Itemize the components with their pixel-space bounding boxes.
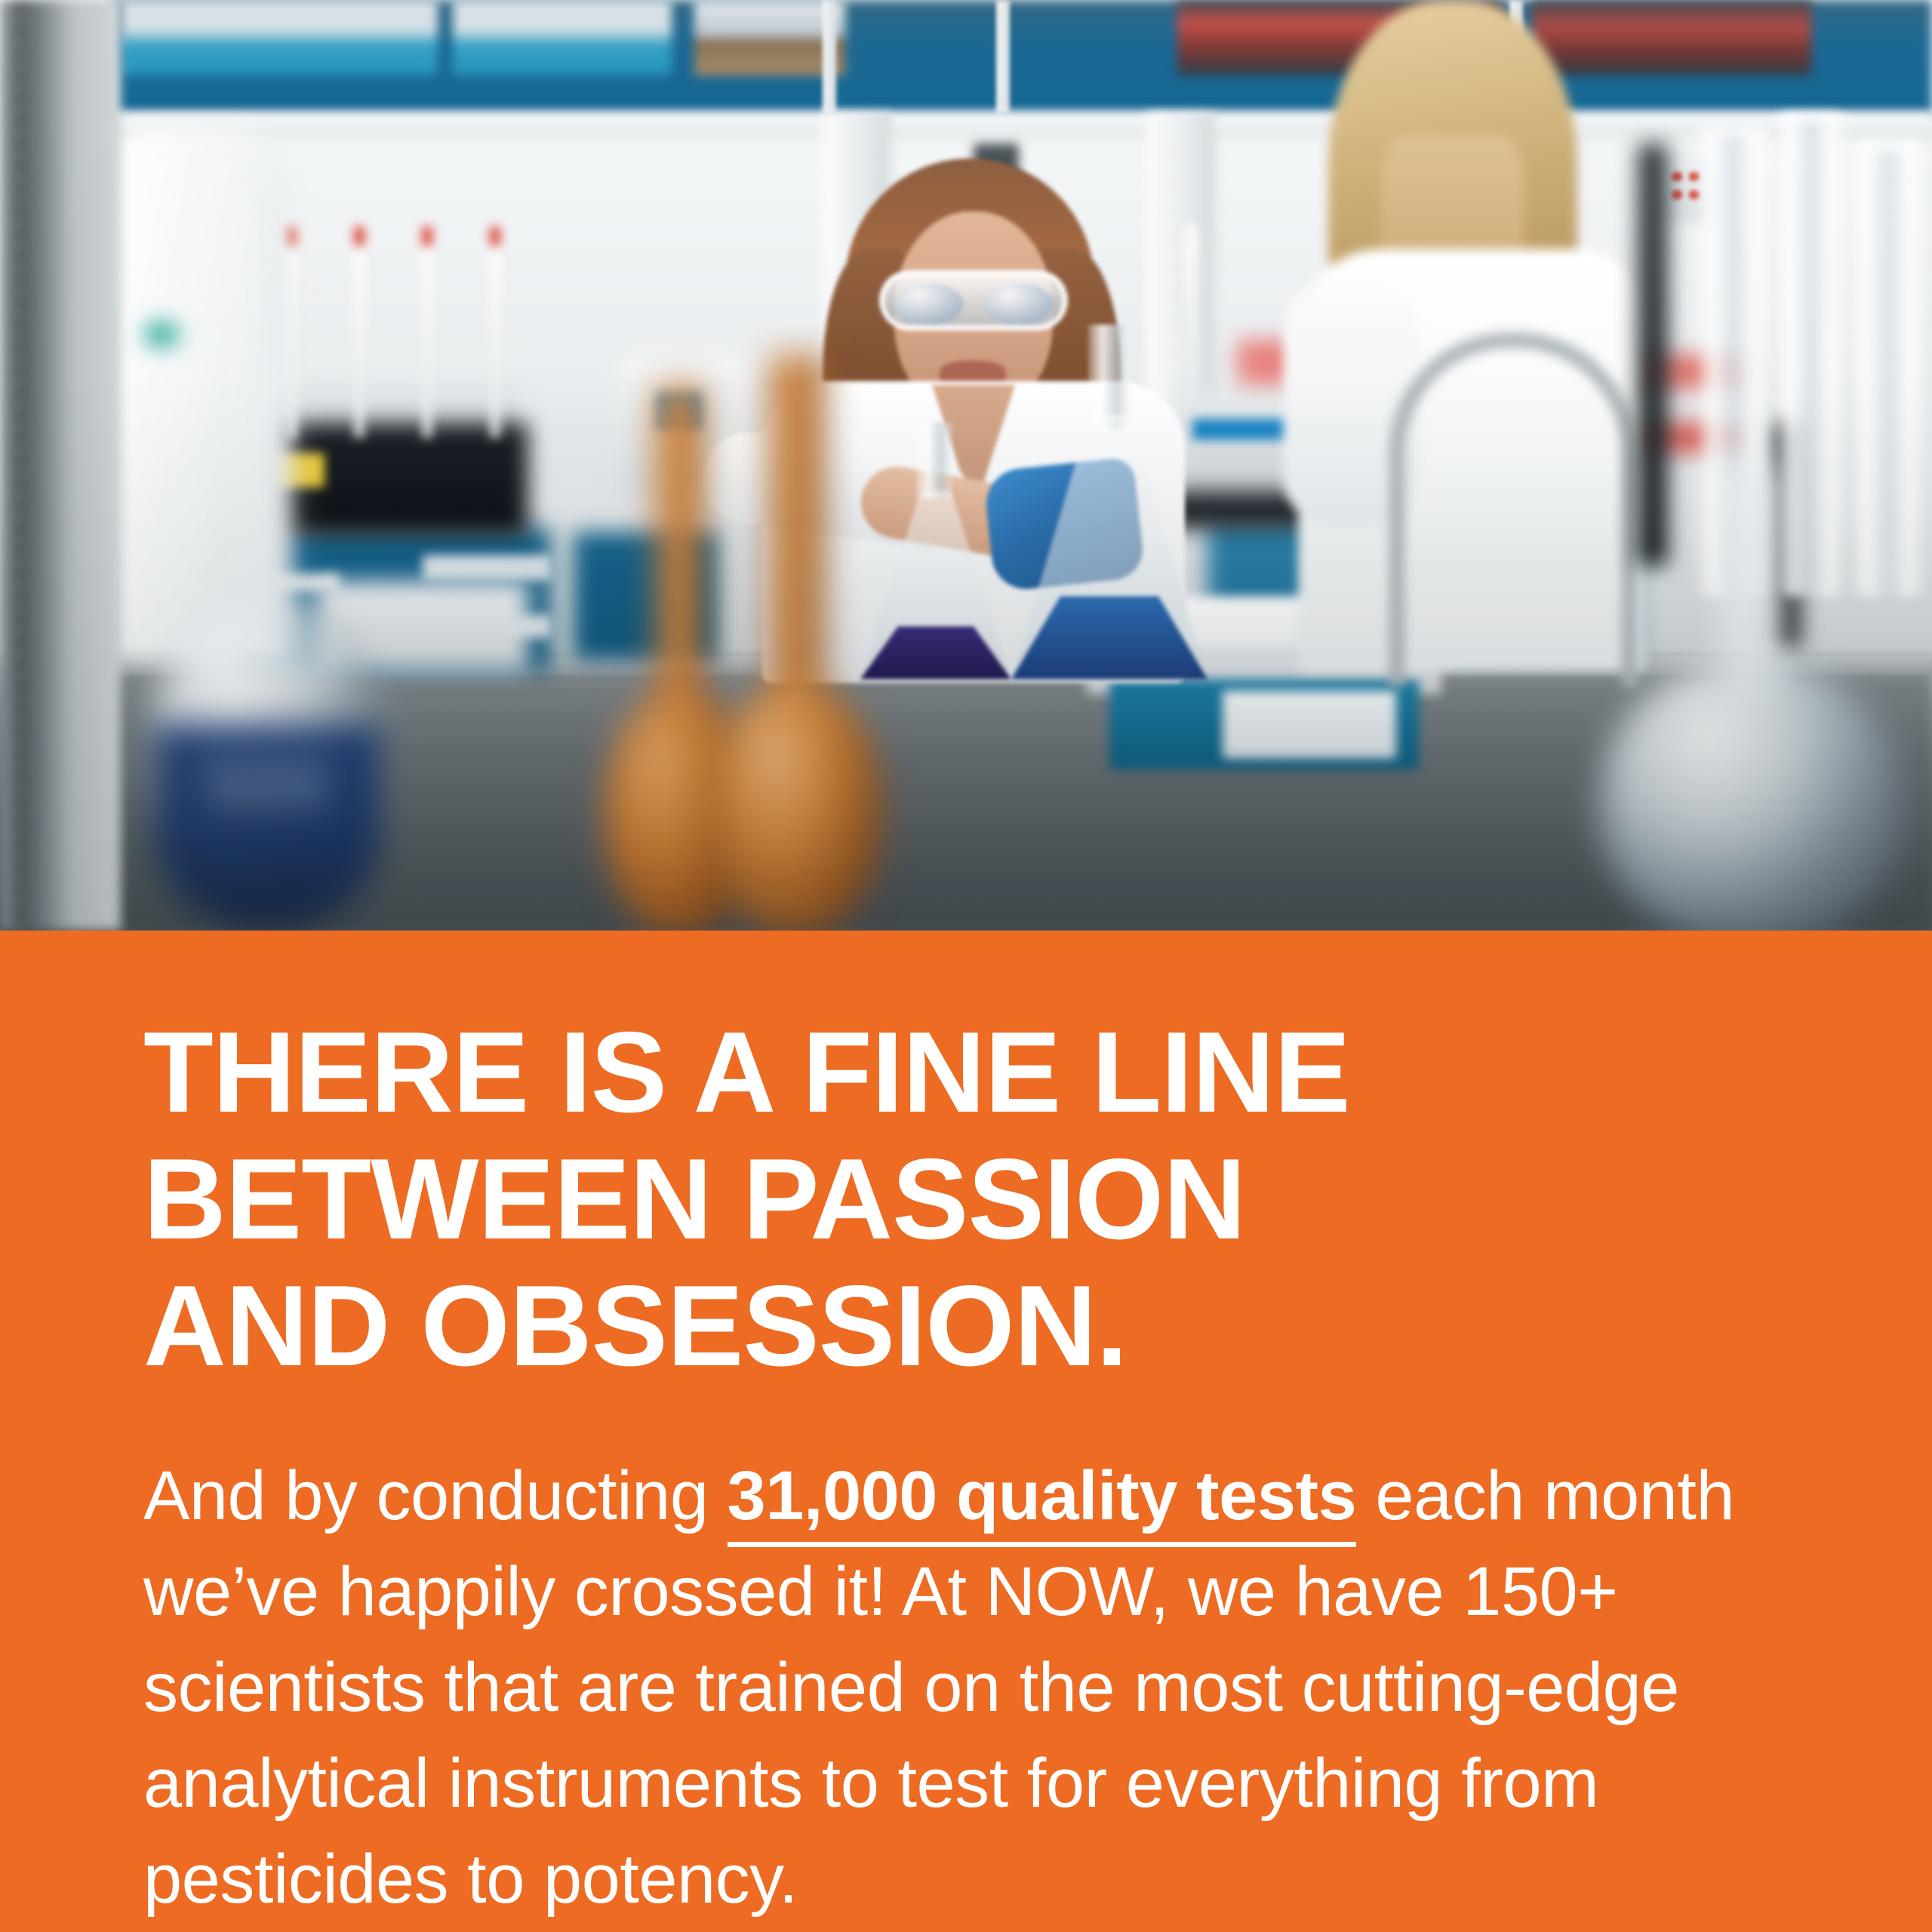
- volumetric-flask-right: [1600, 468, 1902, 931]
- cabinet-divider: [996, 0, 1010, 113]
- flask-bulb: [709, 679, 883, 931]
- headline-line-2: BETWEEN PASSION: [143, 1136, 1736, 1263]
- indicator-light: [1672, 172, 1682, 181]
- flask-neck: [766, 355, 826, 709]
- volumetric-flask-left: 500: [143, 196, 392, 931]
- safety-goggles-icon: [879, 270, 1068, 331]
- erlenmeyer-flask: [1011, 325, 1207, 679]
- quality-tests-highlight: 31,000 quality tests: [728, 1457, 1357, 1547]
- flask-neck: [246, 196, 290, 619]
- headline-line-1: THERE IS A FINE LINE: [143, 1009, 1736, 1136]
- cabinet-glass-pane: [453, 0, 672, 75]
- door-frame: [0, 0, 121, 931]
- pipette-tip: [490, 226, 500, 246]
- flask-neck: [652, 385, 706, 717]
- panel-content: THERE IS A FINE LINE BETWEEN PASSION AND…: [0, 931, 1932, 1927]
- amber-flask: [709, 355, 883, 931]
- pipette: [423, 226, 432, 438]
- headline-line-3: AND OBSESSION.: [143, 1263, 1736, 1389]
- cabinet-shelf-lip: [113, 113, 1932, 134]
- body-text-before: And by conducting: [143, 1457, 728, 1534]
- pipette: [491, 226, 500, 438]
- cabinet-label: [423, 555, 551, 580]
- body-paragraph: And by conducting 31,000 quality tests e…: [143, 1448, 1736, 1927]
- analytical-balance-display: [1223, 691, 1396, 758]
- lab-photo: 500: [0, 0, 1932, 931]
- page-title: THERE IS A FINE LINE BETWEEN PASSION AND…: [143, 1009, 1736, 1389]
- erlenmeyer-flask: [860, 423, 1011, 679]
- indicator-light: [1672, 190, 1682, 199]
- flask-neck: [1088, 325, 1131, 430]
- flask-neck: [916, 423, 952, 498]
- goggle-lens: [984, 283, 1054, 325]
- cabinet-glass-pane: [121, 0, 438, 75]
- lab-scene: 500: [0, 0, 1932, 931]
- pipette-tip: [422, 226, 432, 246]
- flask-bulb: [1600, 657, 1902, 931]
- goggle-lens: [894, 283, 963, 325]
- flask-volume-label: 500: [181, 743, 355, 825]
- marketing-poster: 500 THERE IS A FINE LINE BETWE: [0, 0, 1932, 1932]
- cabinet-divider: [823, 0, 836, 113]
- orange-message-panel: THERE IS A FINE LINE BETWEEN PASSION AND…: [0, 931, 1932, 1932]
